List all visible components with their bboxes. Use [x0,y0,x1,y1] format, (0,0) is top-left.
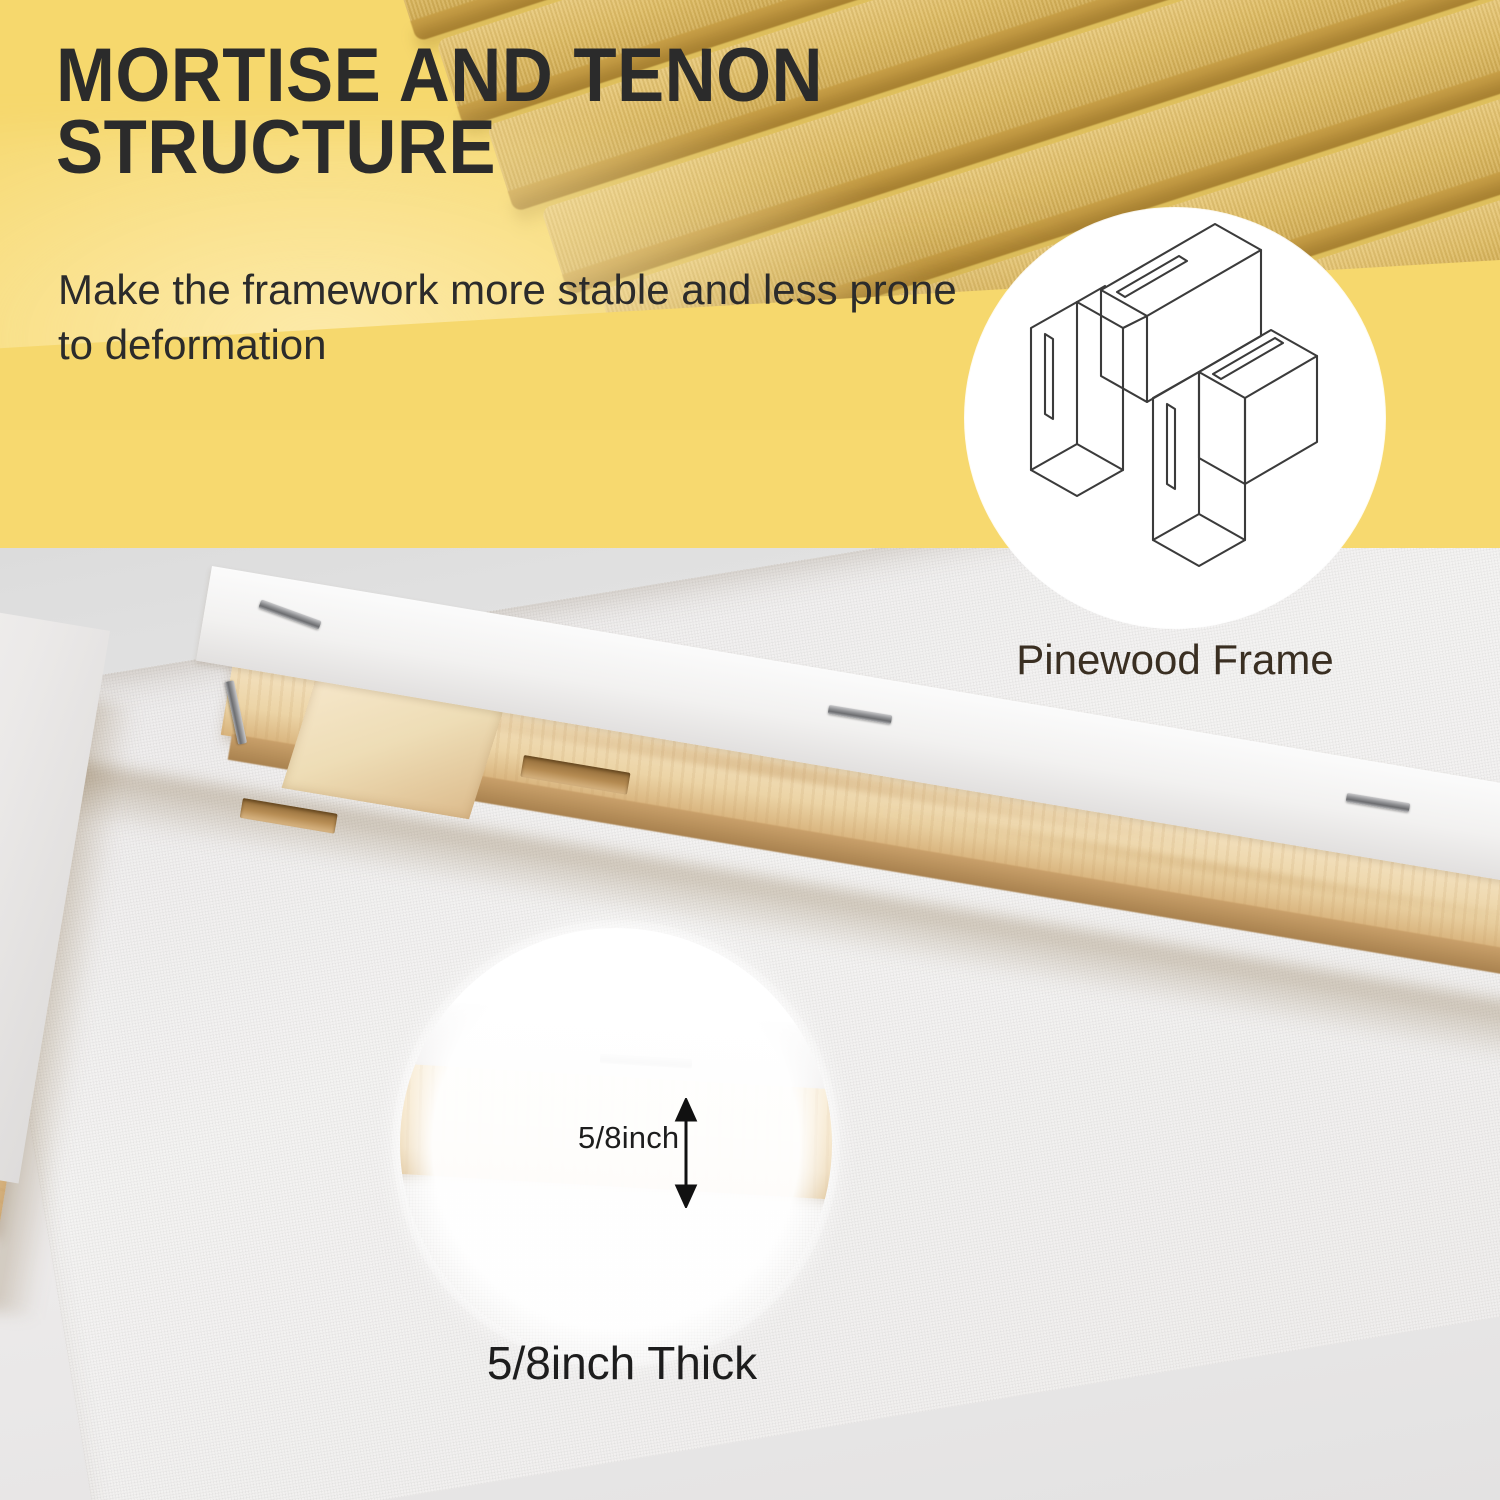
thickness-caption: 5/8inch Thick [332,1336,912,1390]
product-feature-poster: MORTISE AND TENON STRUCTURE Make the fra… [0,0,1500,1500]
thickness-dimension-label: 5/8inch [578,1120,679,1156]
page-title: MORTISE AND TENON STRUCTURE [56,40,986,184]
page-subtitle: Make the framework more stable and less … [58,262,978,373]
pinewood-frame-callout-circle [965,208,1385,628]
headline-line-2: STRUCTURE [56,112,986,184]
pinewood-frame-caption: Pinewood Frame [965,636,1385,684]
thickness-arrow-icon [668,1098,704,1208]
mortise-tenon-joint-icon [965,208,1385,628]
